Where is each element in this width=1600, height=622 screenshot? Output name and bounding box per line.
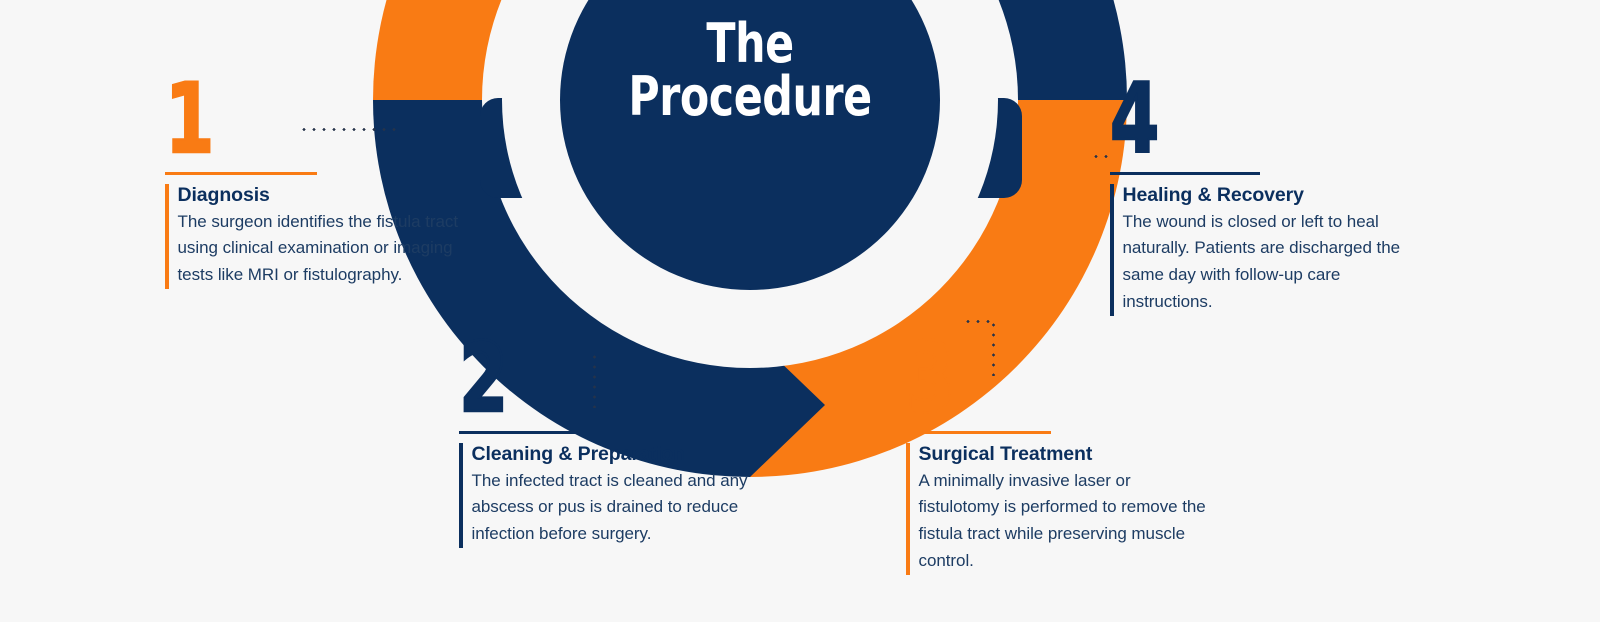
step-number-1: 1 — [165, 82, 411, 168]
step-title-3: Surgical Treatment — [919, 443, 1207, 466]
step-card-3: 3 Surgical Treatment A minimally invasiv… — [906, 341, 1206, 575]
step-accent-bar-3 — [906, 443, 910, 575]
step-description-3: A minimally invasive laser or fistulotom… — [919, 468, 1207, 575]
step-number-4: 4 — [1110, 82, 1356, 168]
connector-dotted-step-3-horizontal — [963, 320, 995, 323]
step-number-3: 3 — [906, 341, 1152, 427]
step-description-2: The infected tract is cleaned and any ab… — [472, 468, 760, 549]
step-card-1: 1 Diagnosis The surgeon identifies the f… — [165, 82, 465, 289]
step-accent-bar-1 — [165, 184, 169, 290]
step-title-1: Diagnosis — [178, 184, 466, 207]
step-number-2: 2 — [459, 341, 705, 427]
infographic-canvas: The Procedure 1 Diagnosis The surgeon id… — [0, 0, 1600, 622]
step-accent-bar-4 — [1110, 184, 1114, 316]
step-title-2: Cleaning & Preparation — [472, 443, 760, 466]
step-card-2: 2 Cleaning & Preparation The infected tr… — [459, 341, 759, 548]
center-title: The Procedure — [583, 18, 917, 124]
step-card-4: 4 Healing & Recovery The wound is closed… — [1110, 82, 1410, 316]
step-title-4: Healing & Recovery — [1123, 184, 1411, 207]
step-accent-bar-2 — [459, 443, 463, 549]
step-description-4: The wound is closed or left to heal natu… — [1123, 209, 1411, 316]
step-description-1: The surgeon identifies the fistula tract… — [178, 209, 466, 290]
